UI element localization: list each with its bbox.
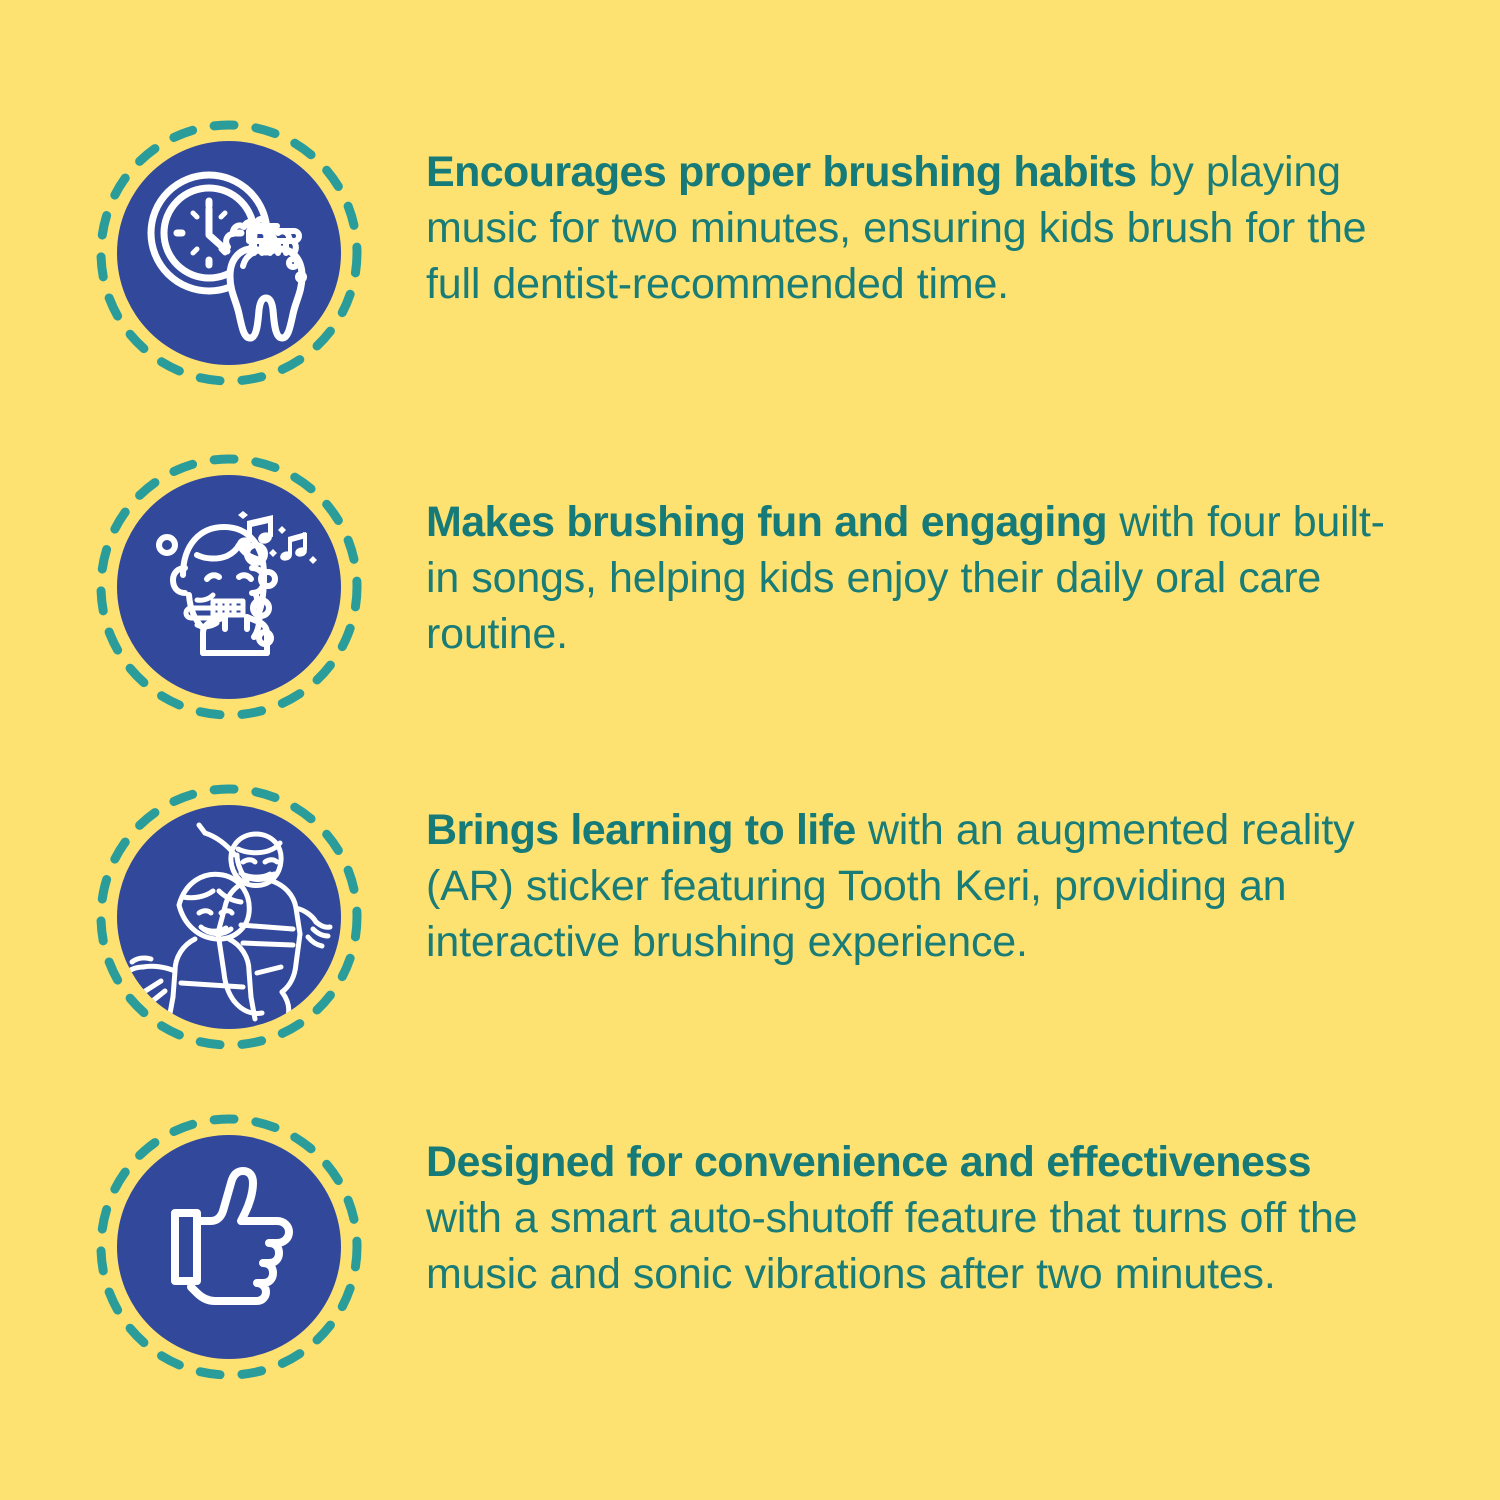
feature-text-wrap: Makes brushing fun and engaging with fou…: [426, 452, 1388, 662]
feature-paragraph: Brings learning to life with an augmente…: [426, 802, 1388, 970]
feature-heading: Makes brushing fun and engaging: [426, 498, 1107, 546]
feature-heading: Encourages proper brushing habits: [426, 148, 1136, 196]
feature-paragraph: Encourages proper brushing habits by pla…: [426, 144, 1388, 312]
feature-icon-badge: [94, 118, 364, 388]
feature-icon-badge: [94, 782, 364, 1052]
superhero-characters-icon: [117, 805, 341, 1029]
feature-benefits-infographic: Encourages proper brushing habits by pla…: [0, 0, 1500, 1500]
feature-item: Makes brushing fun and engaging with fou…: [0, 452, 1500, 722]
feature-body: with a smart auto-shutoff feature that t…: [426, 1194, 1357, 1298]
feature-list: Encourages proper brushing habits by pla…: [0, 0, 1500, 1500]
feature-icon-badge: [94, 452, 364, 722]
clock-tooth-toothbrush-icon: [117, 141, 341, 365]
feature-item: Brings learning to life with an augmente…: [0, 782, 1500, 1052]
feature-icon-badge: [94, 1112, 364, 1382]
feature-text-wrap: Encourages proper brushing habits by pla…: [426, 118, 1388, 312]
thumbs-up-icon: [117, 1135, 341, 1359]
feature-paragraph: Makes brushing fun and engaging with fou…: [426, 494, 1388, 662]
feature-heading: Designed for convenience and effectivene…: [426, 1138, 1311, 1186]
feature-paragraph: Designed for convenience and effectivene…: [426, 1134, 1388, 1302]
feature-item: Designed for convenience and effectivene…: [0, 1112, 1500, 1382]
feature-text-wrap: Brings learning to life with an augmente…: [426, 782, 1388, 970]
feature-item: Encourages proper brushing habits by pla…: [0, 118, 1500, 388]
feature-heading: Brings learning to life: [426, 806, 856, 854]
child-brushing-with-music-notes-icon: [117, 475, 341, 699]
feature-text-wrap: Designed for convenience and effectivene…: [426, 1112, 1388, 1302]
